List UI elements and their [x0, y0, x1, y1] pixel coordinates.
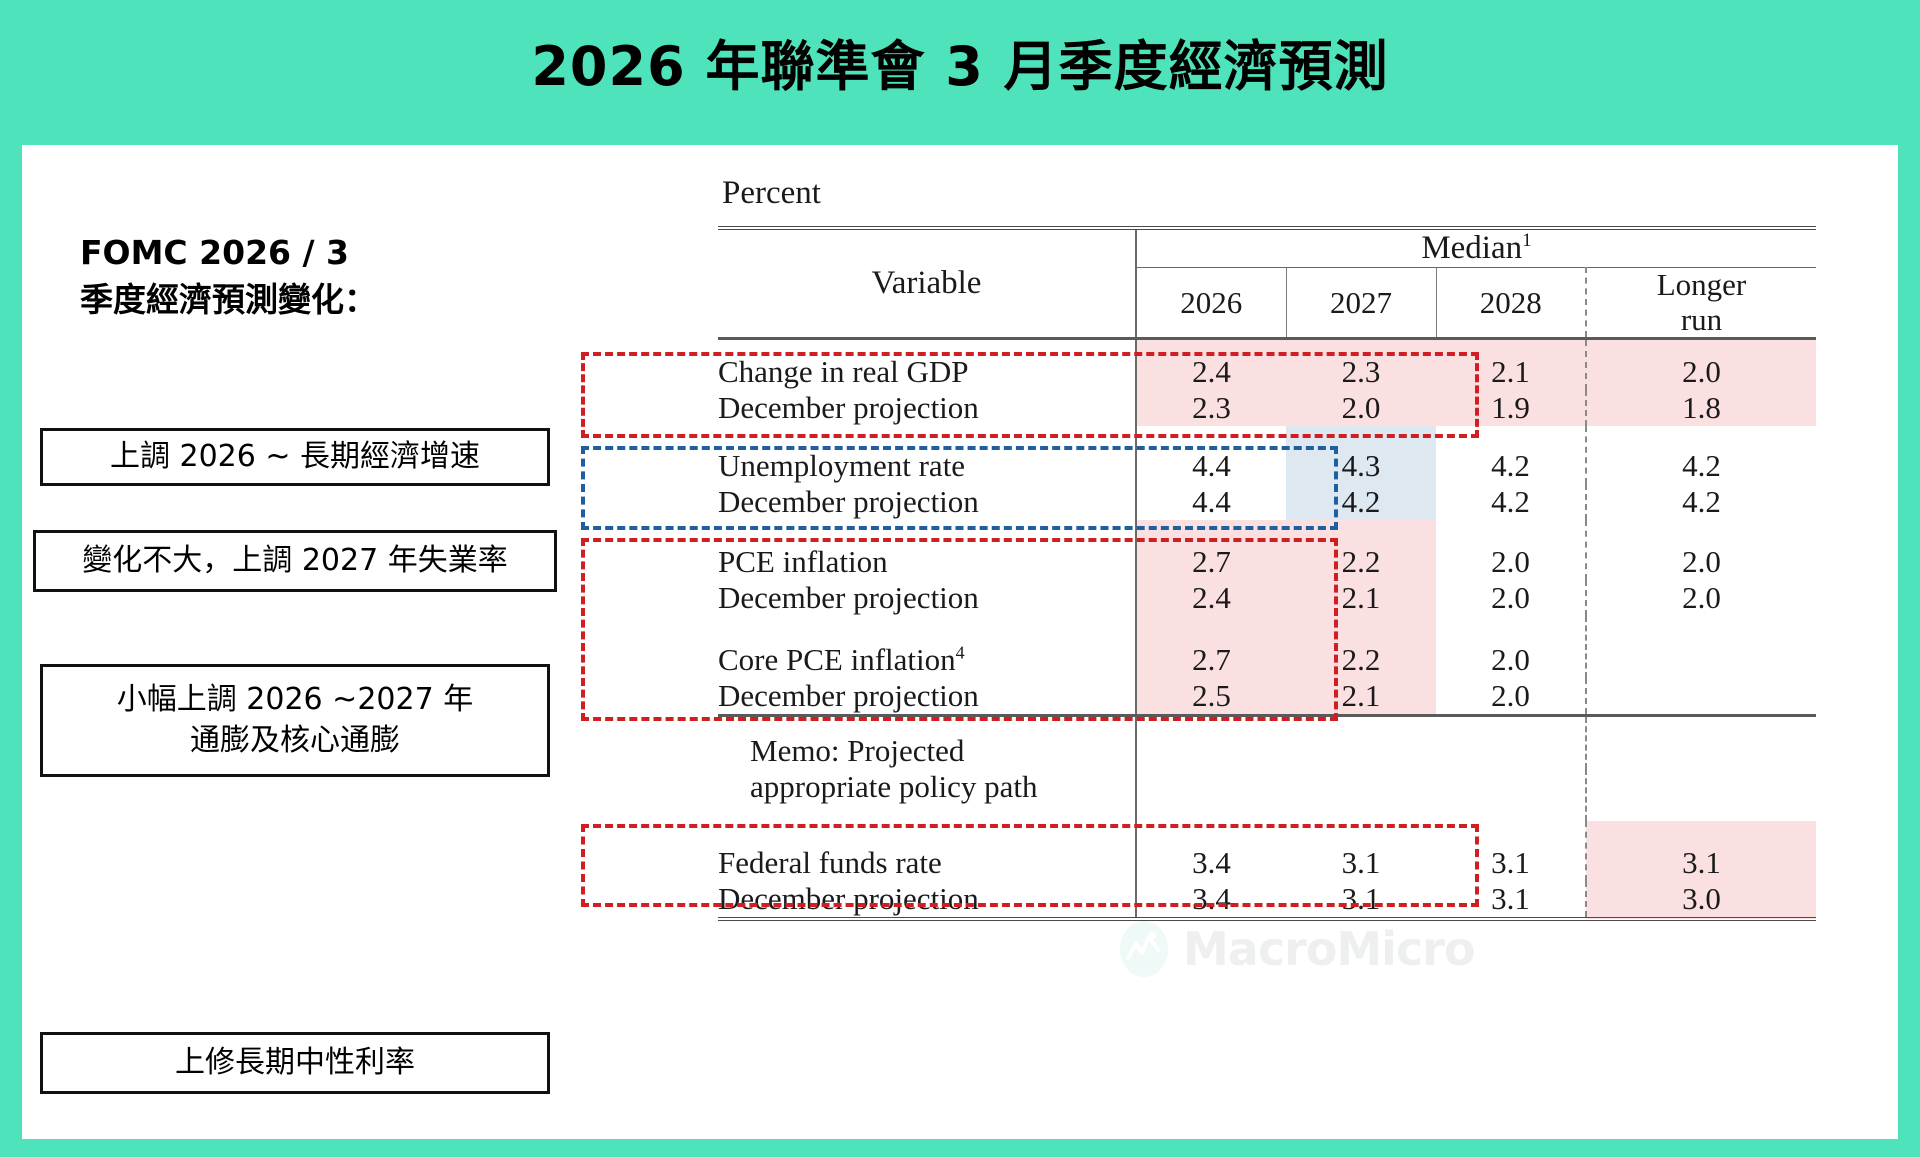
cell-ffr-2028: 3.1	[1436, 821, 1586, 881]
table-row: appropriate policy path	[718, 769, 1816, 821]
table-row: December projection 4.4 4.2 4.2 4.2	[718, 484, 1816, 520]
cell-unemp-dec-2027: 4.2	[1286, 484, 1436, 520]
cell-ffr-dec-2026: 3.4	[1136, 881, 1286, 919]
note-box-federal-funds-label: 上修長期中性利率	[175, 1043, 415, 1084]
row-label-federal-funds: Federal funds rate	[718, 821, 1136, 881]
cell-core-pce-dec-2026: 2.5	[1136, 678, 1286, 716]
frame-bottom-border	[0, 1139, 1920, 1157]
table-row: December projection 2.5 2.1 2.0	[718, 678, 1816, 716]
fomc-heading-line2: 季度經濟預測變化：	[80, 277, 720, 324]
table-row: Federal funds rate 3.4 3.1 3.1 3.1	[718, 821, 1816, 881]
cell-gdp-dec-2027: 2.0	[1286, 390, 1436, 426]
cell-gdp-dec-longer-run: 1.8	[1586, 390, 1816, 426]
cell-memo2-2027	[1286, 769, 1436, 821]
cell-memo-longer-run	[1586, 716, 1816, 770]
cell-gdp-longer-run: 2.0	[1586, 339, 1816, 391]
sep-table-body: Change in real GDP 2.4 2.3 2.1 2.0 Decem…	[718, 339, 1816, 920]
column-header-median-label: Median	[1421, 230, 1522, 266]
note-box-inflation-label-line1: 小幅上調 2026 ~2027 年	[117, 680, 473, 721]
row-label-core-pce-december: December projection	[718, 678, 1136, 716]
cell-memo-2028	[1436, 716, 1586, 770]
cell-unemp-2026: 4.4	[1136, 426, 1286, 484]
column-header-median: Median1	[1136, 228, 1816, 268]
cell-core-pce-dec-2028: 2.0	[1436, 678, 1586, 716]
cell-ffr-dec-2027: 3.1	[1286, 881, 1436, 919]
table-row: Memo: Projected	[718, 716, 1816, 770]
table-row: December projection 2.4 2.1 2.0 2.0	[718, 580, 1816, 616]
table-row: Change in real GDP 2.4 2.3 2.1 2.0	[718, 339, 1816, 391]
cell-gdp-2027: 2.3	[1286, 339, 1436, 391]
note-box-unemployment-label: 變化不大，上調 2027 年失業率	[82, 541, 507, 582]
table-row: PCE inflation 2.7 2.2 2.0 2.0	[718, 520, 1816, 580]
cell-gdp-dec-2026: 2.3	[1136, 390, 1286, 426]
table-row: December projection 3.4 3.1 3.1 3.0	[718, 881, 1816, 919]
cell-ffr-dec-2028: 3.1	[1436, 881, 1586, 919]
cell-pce-2026: 2.7	[1136, 520, 1286, 580]
column-header-longer-run-line2: run	[1587, 303, 1816, 338]
cell-memo2-2026	[1136, 769, 1286, 821]
table-header-row-median: Variable Median1	[718, 228, 1816, 268]
cell-core-pce-2027: 2.2	[1286, 616, 1436, 678]
cell-unemp-2028: 4.2	[1436, 426, 1586, 484]
cell-pce-2028: 2.0	[1436, 520, 1586, 580]
note-box-federal-funds: 上修長期中性利率	[40, 1032, 550, 1094]
unit-label: Percent	[718, 175, 1848, 212]
sep-table-head: Variable Median1 2026 2027 2028 Longer r…	[718, 228, 1816, 339]
row-label-memo-line2: appropriate policy path	[718, 769, 1136, 821]
cell-pce-longer-run: 2.0	[1586, 520, 1816, 580]
cell-unemp-dec-longer-run: 4.2	[1586, 484, 1816, 520]
cell-ffr-longer-run: 3.1	[1586, 821, 1816, 881]
row-label-pce: PCE inflation	[718, 520, 1136, 580]
note-box-gdp-label: 上調 2026 ~ 長期經濟增速	[110, 437, 480, 478]
fomc-heading: FOMC 2026 / 3 季度經濟預測變化：	[40, 230, 720, 324]
cell-unemp-2027: 4.3	[1286, 426, 1436, 484]
column-header-2028: 2028	[1436, 268, 1586, 339]
row-label-pce-december: December projection	[718, 580, 1136, 616]
cell-ffr-2027: 3.1	[1286, 821, 1436, 881]
row-label-core-pce: Core PCE inflation4	[718, 616, 1136, 678]
frame-left-border	[0, 145, 22, 1157]
table-row: Unemployment rate 4.4 4.3 4.2 4.2	[718, 426, 1816, 484]
sep-table-container: Percent Variable Median1 2026 2027 2028 …	[718, 175, 1848, 1130]
column-header-2026: 2026	[1136, 268, 1286, 339]
fomc-heading-line1: FOMC 2026 / 3	[80, 230, 720, 277]
cell-ffr-dec-longer-run: 3.0	[1586, 881, 1816, 919]
row-label-federal-funds-december: December projection	[718, 881, 1136, 919]
cell-ffr-2026: 3.4	[1136, 821, 1286, 881]
page-title: 2026 年聯準會 3 月季度經濟預測	[0, 22, 1920, 101]
cell-pce-2027: 2.2	[1286, 520, 1436, 580]
note-box-gdp: 上調 2026 ~ 長期經濟增速	[40, 428, 550, 486]
cell-pce-dec-2027: 2.1	[1286, 580, 1436, 616]
cell-core-pce-2028: 2.0	[1436, 616, 1586, 678]
column-header-2027: 2027	[1286, 268, 1436, 339]
cell-pce-dec-2028: 2.0	[1436, 580, 1586, 616]
cell-unemp-dec-2028: 4.2	[1436, 484, 1586, 520]
annotations-panel: FOMC 2026 / 3 季度經濟預測變化：	[40, 230, 720, 324]
note-box-inflation: 小幅上調 2026 ~2027 年 通膨及核心通膨	[40, 664, 550, 777]
note-box-unemployment: 變化不大，上調 2027 年失業率	[33, 530, 557, 592]
cell-core-pce-dec-2027: 2.1	[1286, 678, 1436, 716]
core-pce-footnote-marker: 4	[956, 643, 965, 663]
row-label-gdp-december: December projection	[718, 390, 1136, 426]
row-label-core-pce-text: Core PCE inflation	[718, 642, 956, 677]
column-header-variable: Variable	[718, 228, 1136, 339]
table-row: December projection 2.3 2.0 1.9 1.8	[718, 390, 1816, 426]
sep-table: Variable Median1 2026 2027 2028 Longer r…	[718, 226, 1816, 921]
cell-core-pce-2026: 2.7	[1136, 616, 1286, 678]
column-header-longer-run: Longer run	[1586, 268, 1816, 339]
cell-gdp-2028: 2.1	[1436, 339, 1586, 391]
cell-memo2-2028	[1436, 769, 1586, 821]
cell-memo2-longer-run	[1586, 769, 1816, 821]
row-label-unemployment: Unemployment rate	[718, 426, 1136, 484]
cell-pce-dec-2026: 2.4	[1136, 580, 1286, 616]
cell-core-pce-longer-run	[1586, 616, 1816, 678]
cell-memo-2027	[1286, 716, 1436, 770]
row-label-unemployment-december: December projection	[718, 484, 1136, 520]
column-header-longer-run-line1: Longer	[1587, 268, 1816, 303]
cell-unemp-dec-2026: 4.4	[1136, 484, 1286, 520]
cell-unemp-longer-run: 4.2	[1586, 426, 1816, 484]
row-label-memo-line1: Memo: Projected	[718, 716, 1136, 770]
cell-pce-dec-longer-run: 2.0	[1586, 580, 1816, 616]
median-footnote-marker: 1	[1522, 230, 1532, 251]
frame-right-border	[1898, 145, 1920, 1157]
cell-core-pce-dec-longer-run	[1586, 678, 1816, 716]
cell-gdp-2026: 2.4	[1136, 339, 1286, 391]
table-row: Core PCE inflation4 2.7 2.2 2.0	[718, 616, 1816, 678]
cell-memo-2026	[1136, 716, 1286, 770]
cell-gdp-dec-2028: 1.9	[1436, 390, 1586, 426]
note-box-inflation-label-line2: 通膨及核心通膨	[190, 721, 400, 762]
row-label-gdp: Change in real GDP	[718, 339, 1136, 391]
